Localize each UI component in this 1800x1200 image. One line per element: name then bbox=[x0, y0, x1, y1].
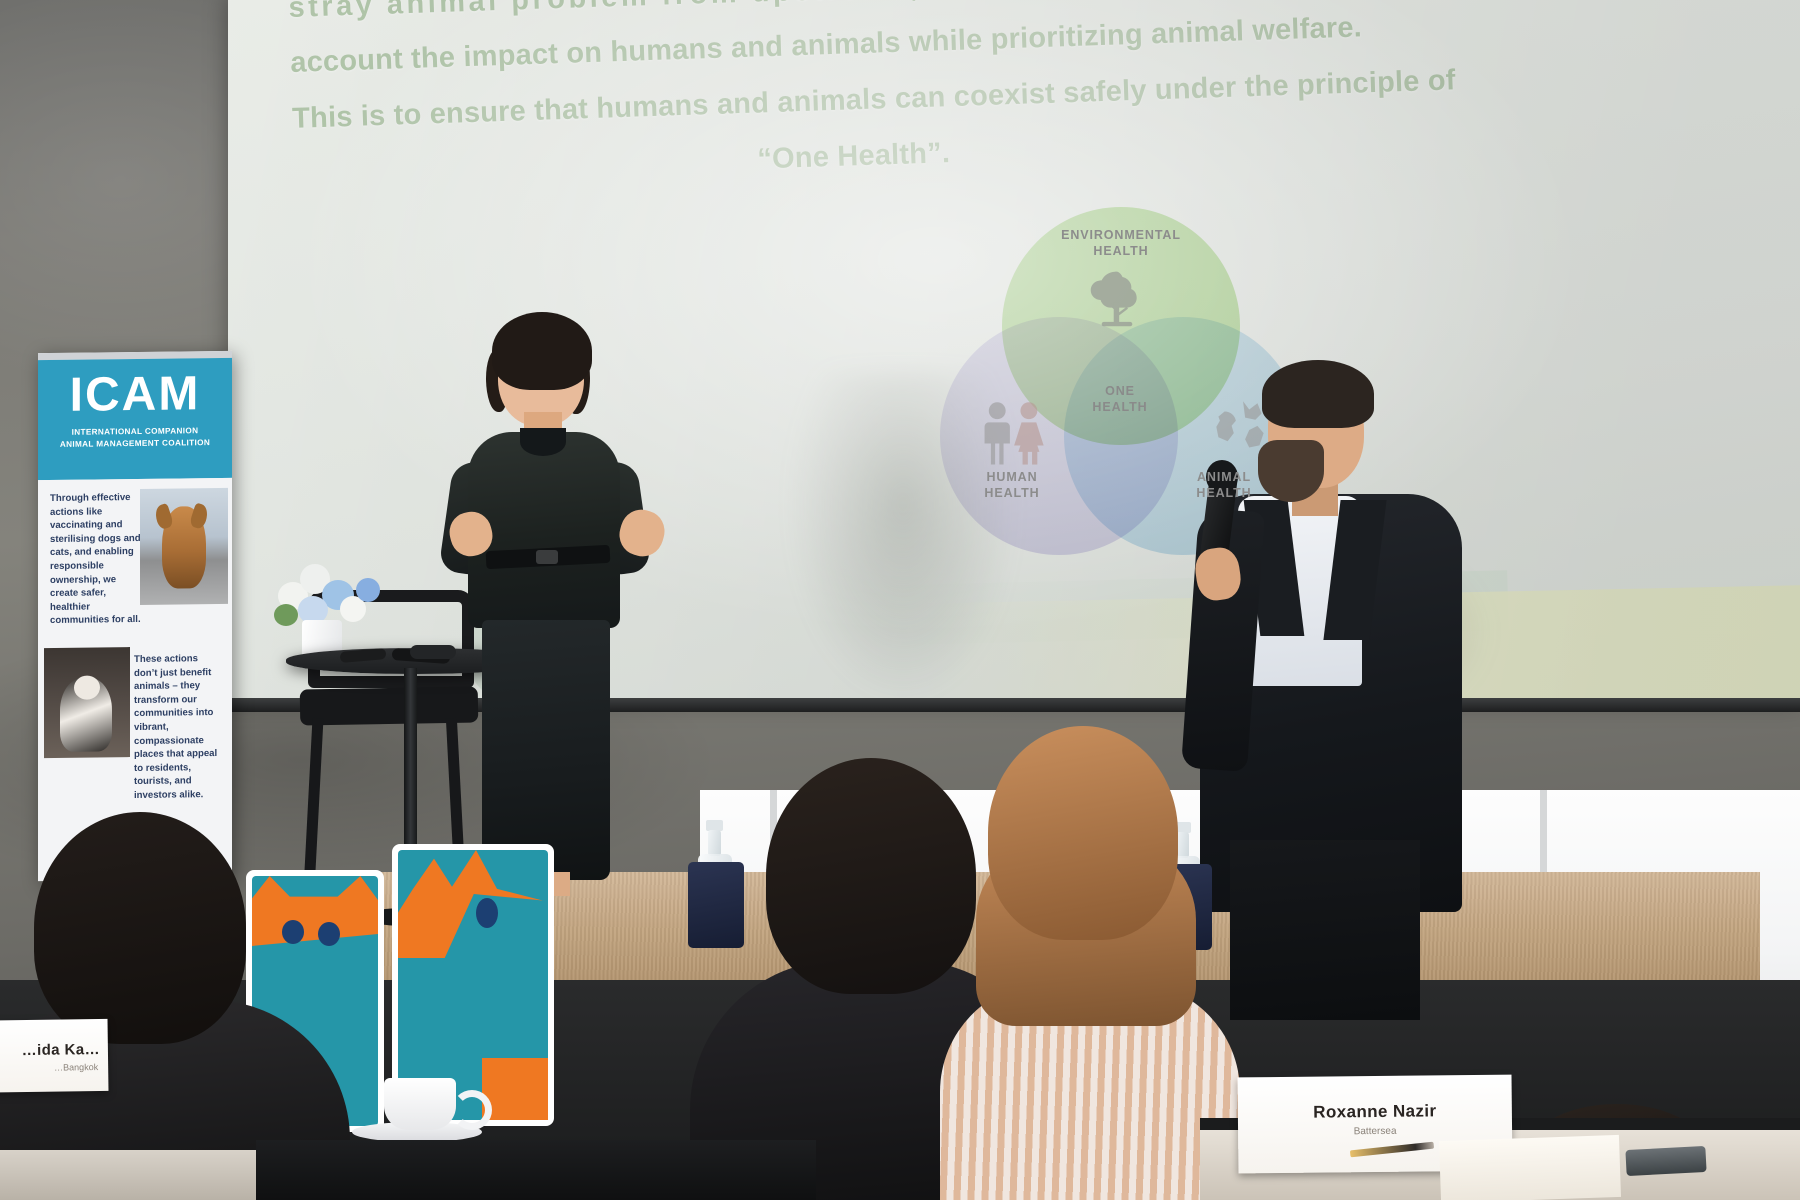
people-icon bbox=[974, 397, 1050, 473]
venn-label-one-health: ONE HEALTH bbox=[1068, 383, 1172, 415]
cat-standee-eye-left bbox=[282, 920, 304, 944]
smartphone bbox=[1625, 1146, 1706, 1176]
venn-label-human: HUMAN HEALTH bbox=[950, 469, 1074, 501]
coffee-cup bbox=[384, 1078, 456, 1130]
audience-head-dark bbox=[766, 758, 976, 994]
presenter-hair bbox=[492, 312, 592, 390]
microphone-on-table bbox=[410, 645, 456, 659]
icam-logo-text: ICAM bbox=[38, 370, 232, 420]
coffee-cup-handle bbox=[452, 1090, 492, 1130]
bottle-neck bbox=[708, 830, 721, 856]
audience-head-dark bbox=[34, 812, 246, 1044]
screenshot-root: stray animal problem from upstream, indu… bbox=[0, 0, 1800, 1200]
presenter-belt-buckle bbox=[536, 550, 558, 564]
slide-text-block: stray animal problem from upstream, indu… bbox=[288, 0, 1754, 190]
cat-standee-eye-right bbox=[318, 922, 340, 946]
nameplate-org: Battersea bbox=[1238, 1125, 1512, 1139]
slide-line-4: “One Health”. bbox=[294, 124, 1414, 190]
venn-label-environmental: ENVIRONMENTAL HEALTH bbox=[1026, 227, 1216, 259]
flower-blue bbox=[356, 578, 380, 602]
banner-dog-photo bbox=[140, 488, 228, 605]
nameplate-left: …ida Ka… …Bangkok bbox=[0, 1019, 108, 1093]
moderator-trousers bbox=[1230, 840, 1420, 1020]
dog-standee-eye bbox=[476, 898, 498, 928]
foreground-table-edge bbox=[256, 1140, 816, 1200]
animals-icon bbox=[1204, 395, 1278, 465]
venn-label-human-line2: HEALTH bbox=[950, 485, 1074, 501]
tree-icon bbox=[1082, 265, 1152, 335]
venn-label-one-health-line2: HEALTH bbox=[1068, 399, 1172, 415]
banner-header: ICAM INTERNATIONAL COMPANION ANIMAL MANA… bbox=[38, 358, 232, 480]
venn-label-animal: ANIMAL HEALTH bbox=[1162, 469, 1286, 501]
moderator-hair bbox=[1262, 360, 1374, 428]
venn-label-one-health-line1: ONE bbox=[1068, 383, 1172, 399]
venn-label-animal-line1: ANIMAL bbox=[1162, 469, 1286, 485]
icam-subtitle-line2: ANIMAL MANAGEMENT COALITION bbox=[44, 437, 226, 451]
venn-label-animal-line2: HEALTH bbox=[1162, 485, 1286, 501]
banner-cat-photo bbox=[44, 647, 130, 758]
presenter-skirt bbox=[482, 620, 610, 880]
icam-subtitle: INTERNATIONAL COMPANION ANIMAL MANAGEMEN… bbox=[38, 425, 232, 451]
nameplate-name: Roxanne Nazir bbox=[1238, 1101, 1512, 1124]
bottle-sleeve bbox=[688, 862, 744, 948]
presenter-collar bbox=[520, 428, 566, 456]
icam-rollup-banner: ICAM INTERNATIONAL COMPANION ANIMAL MANA… bbox=[38, 351, 232, 881]
dog-photo-ear-right bbox=[189, 503, 211, 530]
venn-label-environmental-line2: HEALTH bbox=[1026, 243, 1216, 259]
venn-label-environmental-line1: ENVIRONMENTAL bbox=[1026, 227, 1216, 243]
flower-leaf bbox=[274, 604, 298, 626]
audience-head-ginger bbox=[988, 726, 1178, 940]
nameplate-org: …Bangkok bbox=[0, 1062, 108, 1074]
chair-leg bbox=[304, 718, 324, 890]
paper-sheet bbox=[1439, 1135, 1621, 1200]
nameplate-name: …ida Ka… bbox=[0, 1041, 108, 1060]
banner-paragraph-1: Through effective actions like vaccinati… bbox=[50, 491, 142, 628]
banner-paragraph-2: These actions don’t just benefit animals… bbox=[134, 652, 222, 803]
